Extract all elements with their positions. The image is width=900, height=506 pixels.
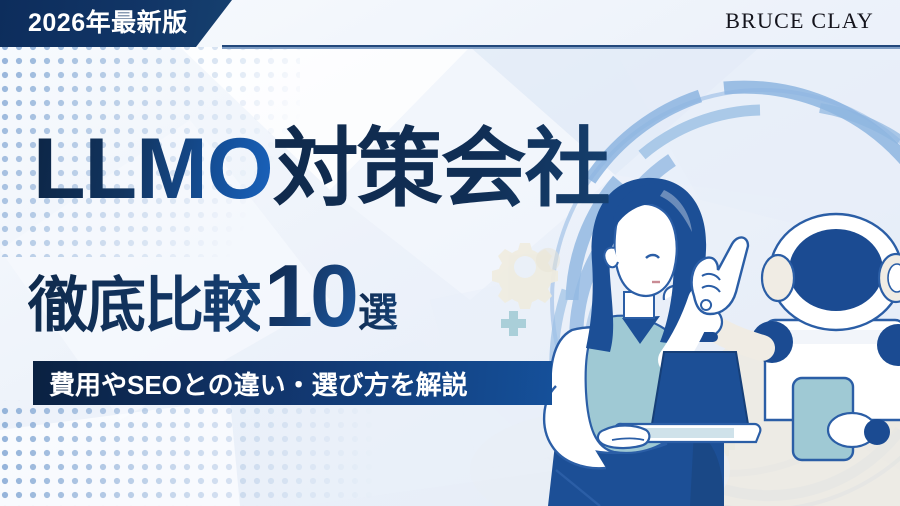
header-divider-rule — [222, 45, 900, 49]
title-count-unit: 選 — [358, 291, 398, 335]
page-title-line-2: 徹底比較10選 — [28, 252, 398, 340]
title-taisaku-gaisha: 対策会社 — [273, 121, 609, 217]
title-count-number: 10 — [264, 246, 356, 345]
title-llmo: LLMO — [33, 121, 273, 217]
subtitle-text: 費用やSEOとの違い・選び方を解説 — [33, 365, 468, 402]
year-badge: 2026年最新版 — [0, 0, 232, 47]
title-comparison: 徹底比較 — [28, 272, 260, 339]
page-title-line-1: LLMO対策会社 — [33, 126, 609, 212]
llmo-hero-banner: 2026年最新版 BRUCE CLAY LLMO対策会社 徹底比較10選 費用や… — [0, 0, 900, 506]
subtitle-banner: 費用やSEOとの違い・選び方を解説 — [33, 361, 552, 405]
year-badge-label: 2026年最新版 — [28, 0, 188, 47]
brand-logo: BRUCE CLAY — [725, 8, 874, 34]
